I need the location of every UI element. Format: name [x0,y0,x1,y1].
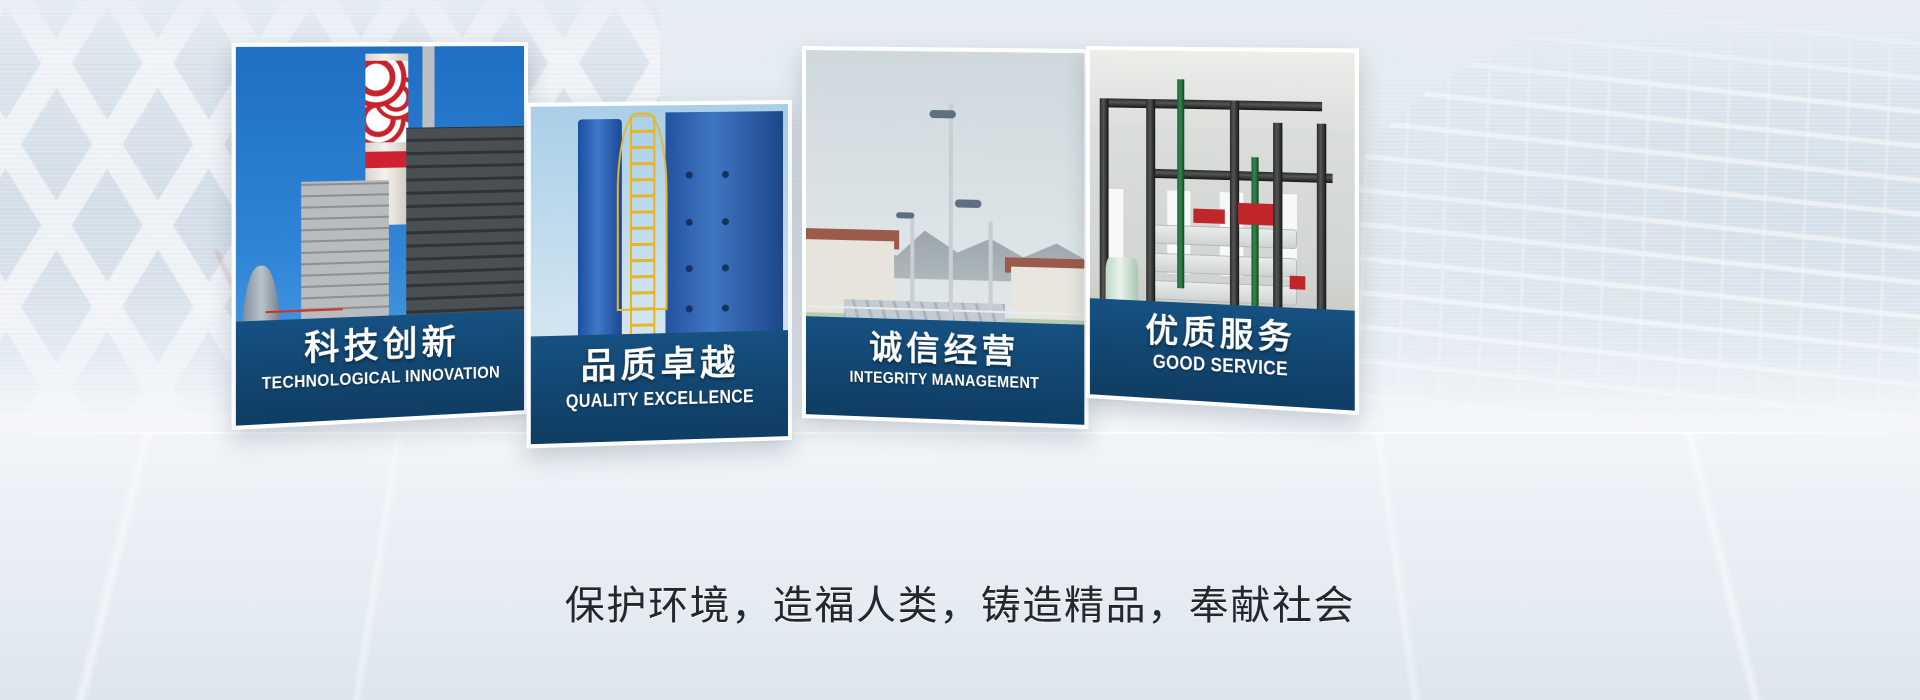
panel-title-zh: 品质卓越 [531,340,788,391]
panel-good-service[interactable]: 优质服务 GOOD SERVICE [1086,46,1359,415]
panel-title-en: QUALITY EXCELLENCE [546,385,772,415]
panel-inner: 科技创新 TECHNOLOGICAL INNOVATION [236,46,524,426]
panel-integrity-management[interactable]: 诚信经营 INTEGRITY MANAGEMENT [802,46,1088,429]
panel-quality-excellence[interactable]: 品质卓越 QUALITY EXCELLENCE [527,100,792,448]
panel-caption: 优质服务 GOOD SERVICE [1090,298,1355,410]
banner-tagline: 保护环境，造福人类，铸造精品，奉献社会 [0,580,1920,632]
panel-caption: 品质卓越 QUALITY EXCELLENCE [531,330,788,444]
panel-inner: 品质卓越 QUALITY EXCELLENCE [531,104,788,444]
panel-inner: 优质服务 GOOD SERVICE [1090,50,1355,411]
panel-caption: 科技创新 TECHNOLOGICAL INNOVATION [236,310,524,426]
hero-banner: 科技创新 TECHNOLOGICAL INNOVATION [0,0,1920,700]
panel-caption: 诚信经营 INTEGRITY MANAGEMENT [806,316,1084,425]
panel-technological-innovation[interactable]: 科技创新 TECHNOLOGICAL INNOVATION [232,42,528,430]
panel-inner: 诚信经营 INTEGRITY MANAGEMENT [806,50,1084,425]
